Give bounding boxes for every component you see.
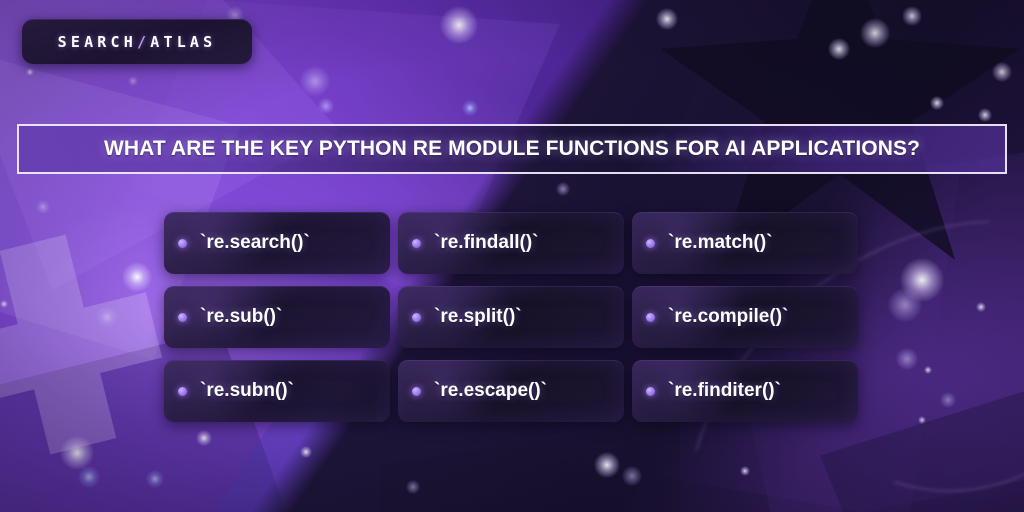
bullet-icon — [646, 387, 655, 396]
bokeh-dot — [318, 98, 334, 114]
bokeh-dot — [888, 288, 922, 322]
brand-logo-text: SEARCH/ATLAS — [58, 33, 217, 51]
function-card-label: `re.match()` — [668, 232, 773, 254]
function-card-label: `re.finditer()` — [668, 380, 781, 402]
function-card-label: `re.compile()` — [668, 306, 788, 328]
cross-shape-icon — [0, 219, 178, 471]
bullet-icon — [412, 239, 421, 248]
bullet-icon — [646, 239, 655, 248]
bokeh-dot — [924, 366, 932, 374]
function-card-label: `re.sub()` — [200, 306, 282, 328]
bokeh-dot — [196, 430, 212, 446]
bokeh-dot — [940, 392, 956, 408]
function-card[interactable]: `re.split()` — [398, 286, 624, 348]
function-card[interactable]: `re.sub()` — [164, 286, 390, 348]
function-card-label: `re.findall()` — [434, 232, 539, 254]
bullet-icon — [412, 387, 421, 396]
function-card[interactable]: `re.escape()` — [398, 360, 624, 422]
bokeh-dot — [0, 300, 8, 308]
bokeh-dot — [740, 466, 750, 476]
polygon-shape — [380, 420, 680, 512]
brand-logo-left: SEARCH — [58, 33, 137, 51]
function-card-label: `re.subn()` — [200, 380, 294, 402]
function-card[interactable]: `re.findall()` — [398, 212, 624, 274]
function-card[interactable]: `re.search()` — [164, 212, 390, 274]
function-card-grid: `re.search()` `re.findall()` `re.match()… — [164, 212, 864, 422]
bokeh-dot — [978, 108, 992, 122]
slide-canvas: SEARCH/ATLAS WHAT ARE THE KEY PYTHON RE … — [0, 0, 1024, 512]
function-card[interactable]: `re.subn()` — [164, 360, 390, 422]
bokeh-dot — [462, 100, 478, 116]
function-card-label: `re.escape()` — [434, 380, 547, 402]
bokeh-dot — [440, 6, 478, 44]
bokeh-dot — [900, 258, 944, 302]
bullet-icon — [178, 313, 187, 322]
bokeh-dot — [556, 182, 570, 196]
function-card-label: `re.split()` — [434, 306, 522, 328]
bullet-icon — [178, 387, 187, 396]
bokeh-dot — [78, 466, 100, 488]
bokeh-dot — [36, 200, 50, 214]
bokeh-dot — [146, 470, 164, 488]
bokeh-dot — [300, 66, 330, 96]
bokeh-dot — [122, 262, 152, 292]
function-card[interactable]: `re.compile()` — [632, 286, 858, 348]
bokeh-dot — [902, 6, 922, 26]
bokeh-dot — [622, 466, 642, 486]
brand-logo-right: ATLAS — [150, 33, 216, 51]
page-title: WHAT ARE THE KEY PYTHON RE MODULE FUNCTI… — [104, 137, 920, 161]
title-banner: WHAT ARE THE KEY PYTHON RE MODULE FUNCTI… — [17, 124, 1007, 174]
bokeh-dot — [918, 416, 926, 424]
bullet-icon — [412, 313, 421, 322]
bullet-icon — [178, 239, 187, 248]
bokeh-dot — [896, 348, 918, 370]
function-card[interactable]: `re.match()` — [632, 212, 858, 274]
bokeh-dot — [594, 452, 620, 478]
bokeh-dot — [976, 302, 986, 312]
brand-logo-badge[interactable]: SEARCH/ATLAS — [22, 19, 252, 64]
bokeh-dot — [300, 446, 312, 458]
bokeh-dot — [26, 68, 34, 76]
bokeh-dot — [128, 76, 138, 86]
bullet-icon — [646, 313, 655, 322]
function-card[interactable]: `re.finditer()` — [632, 360, 858, 422]
bokeh-dot — [656, 8, 678, 30]
bokeh-dot — [406, 480, 420, 494]
brand-logo-slash: / — [137, 33, 150, 51]
function-card-label: `re.search()` — [200, 232, 310, 254]
